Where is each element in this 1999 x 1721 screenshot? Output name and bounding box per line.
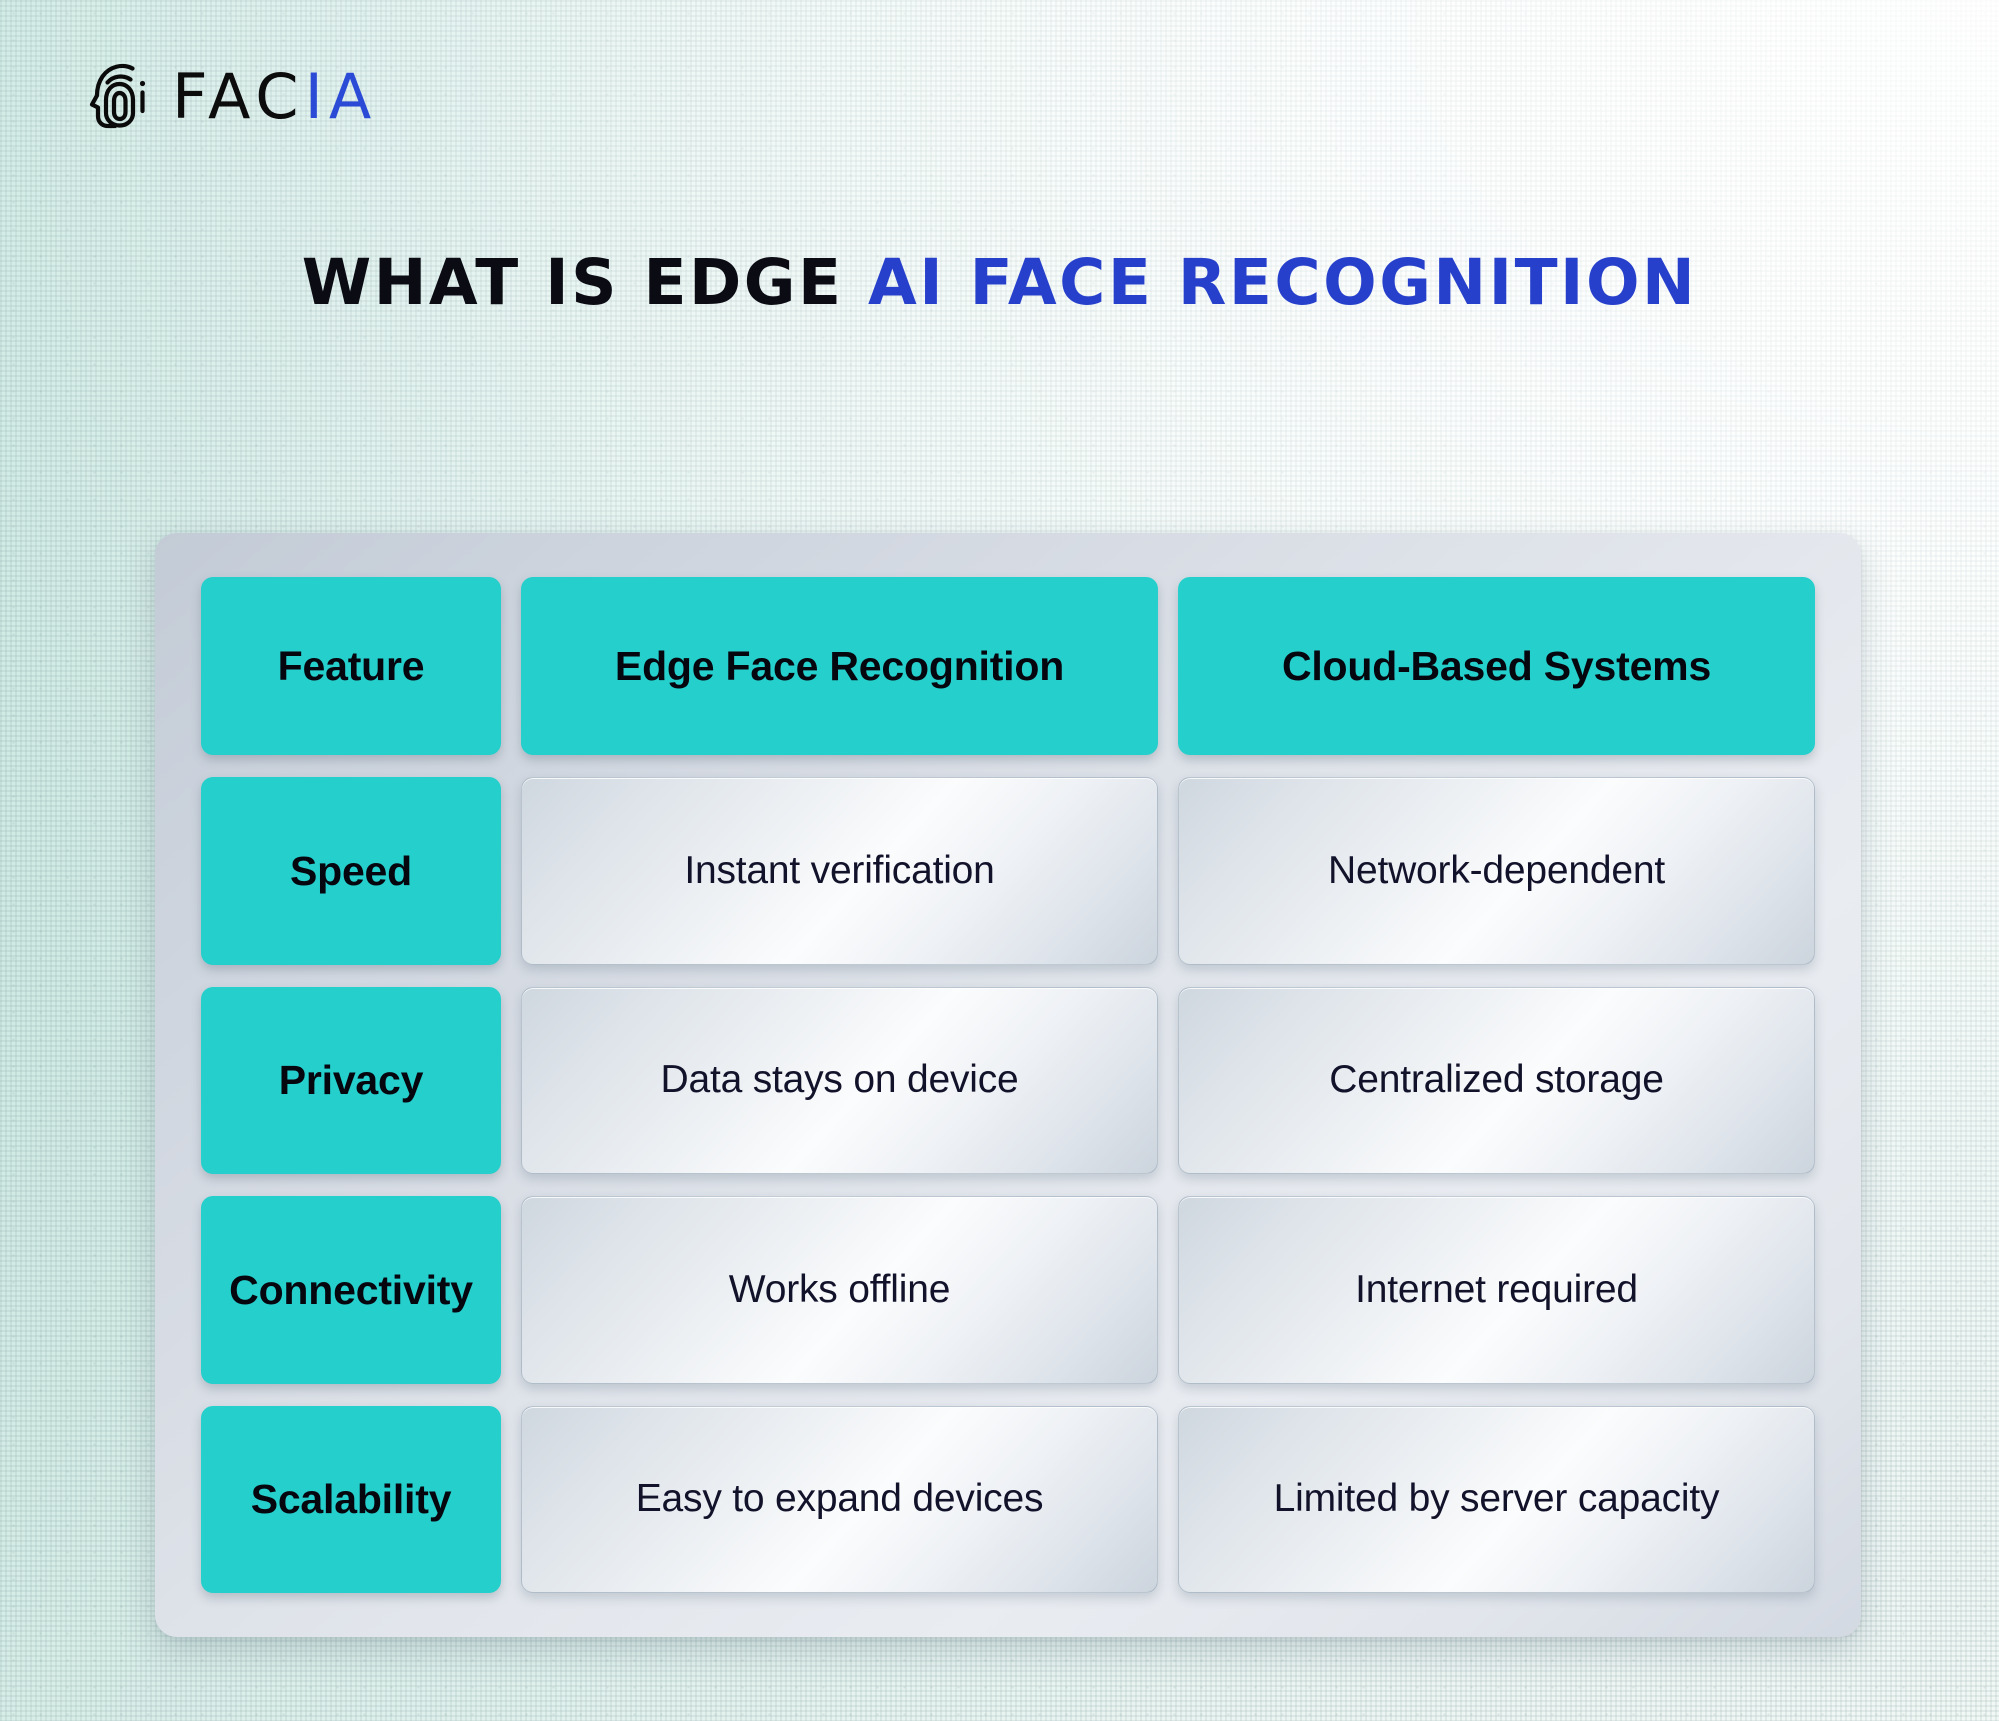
table-row: Connectivity Works offline Internet requ… bbox=[201, 1196, 1815, 1384]
page-title-part-blue: AI FACE RECOGNITION bbox=[868, 246, 1697, 319]
brand-word-fac: FAC bbox=[172, 60, 305, 133]
comparison-table: Feature Edge Face Recognition Cloud-Base… bbox=[201, 577, 1815, 1593]
row-label-scalability: Scalability bbox=[201, 1406, 501, 1594]
table-header-row: Feature Edge Face Recognition Cloud-Base… bbox=[201, 577, 1815, 755]
row-label-privacy: Privacy bbox=[201, 987, 501, 1175]
row-label-connectivity: Connectivity bbox=[201, 1196, 501, 1384]
table-header-feature: Feature bbox=[201, 577, 501, 755]
table-row: Scalability Easy to expand devices Limit… bbox=[201, 1406, 1815, 1594]
cell-speed-edge: Instant verification bbox=[521, 777, 1158, 965]
table-row: Speed Instant verification Network-depen… bbox=[201, 777, 1815, 965]
cell-privacy-edge: Data stays on device bbox=[521, 987, 1158, 1175]
table-header-cloud-based-systems: Cloud-Based Systems bbox=[1178, 577, 1815, 755]
brand-logo: FACIA bbox=[88, 60, 377, 134]
brand-word-ia: IA bbox=[305, 60, 378, 133]
brand-wordmark: FACIA bbox=[172, 66, 377, 128]
cell-scalability-edge: Easy to expand devices bbox=[521, 1406, 1158, 1594]
face-fingerprint-logo-icon bbox=[88, 60, 150, 134]
table-header-edge-face-recognition: Edge Face Recognition bbox=[521, 577, 1158, 755]
cell-connectivity-cloud: Internet required bbox=[1178, 1196, 1815, 1384]
cell-scalability-cloud: Limited by server capacity bbox=[1178, 1406, 1815, 1594]
comparison-table-panel: Feature Edge Face Recognition Cloud-Base… bbox=[155, 533, 1861, 1637]
page-title-part-black: WHAT IS EDGE bbox=[302, 246, 868, 319]
row-label-speed: Speed bbox=[201, 777, 501, 965]
cell-speed-cloud: Network-dependent bbox=[1178, 777, 1815, 965]
cell-privacy-cloud: Centralized storage bbox=[1178, 987, 1815, 1175]
table-row: Privacy Data stays on device Centralized… bbox=[201, 987, 1815, 1175]
cell-connectivity-edge: Works offline bbox=[521, 1196, 1158, 1384]
page-title: WHAT IS EDGE AI FACE RECOGNITION bbox=[0, 248, 1999, 317]
